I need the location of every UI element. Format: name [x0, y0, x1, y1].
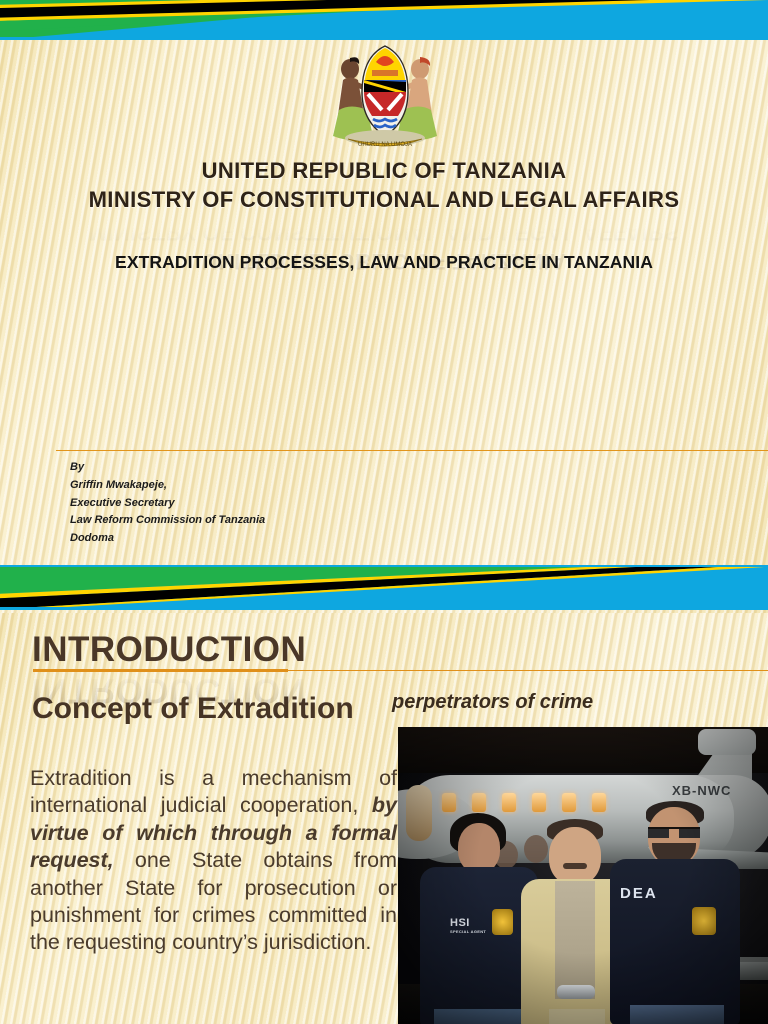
- detainee-head: [549, 827, 601, 885]
- agent-left-patch-label: HSI SPECIAL AGENT: [450, 917, 486, 934]
- byline-name: Griffin Mwakapeje,: [70, 477, 490, 495]
- aircraft-window: [562, 793, 576, 812]
- slide-title: UHURU NA UMOJA UNITED REPUBLIC OF TANZAN…: [0, 0, 768, 613]
- agent-right-jeans: [630, 1005, 724, 1024]
- page-title: UNITED REPUBLIC OF TANZANIA MINISTRY OF …: [0, 156, 768, 214]
- concept-title: Concept of Extradition: [32, 691, 372, 728]
- presentation-subtitle: EXTRADITION PROCESSES, LAW AND PRACTICE …: [104, 250, 664, 275]
- svg-text:UHURU NA UMOJA: UHURU NA UMOJA: [358, 142, 412, 148]
- section-heading: INTRODUCTION INTRODUCTION: [32, 630, 306, 670]
- aircraft-window: [502, 793, 516, 812]
- extradition-photo: XB-NWC HSI SPECIAL AGE: [398, 727, 768, 1024]
- byline-location: Dodoma: [70, 530, 490, 548]
- slide-introduction: INTRODUCTION INTRODUCTION Concept of Ext…: [0, 613, 768, 1024]
- detainee-legs: [549, 1009, 605, 1024]
- body-part-1: Extradition is a mechanism of internatio…: [30, 766, 397, 817]
- flag-band-bottom-edge-top: [0, 565, 768, 567]
- agent-left-jeans: [434, 1009, 526, 1024]
- presentation-page: UHURU NA UMOJA UNITED REPUBLIC OF TANZAN…: [0, 0, 768, 1024]
- aircraft-window: [532, 793, 546, 812]
- agent-left-badge-icon: [492, 909, 513, 935]
- photo-agent-right: DEA: [610, 801, 740, 1024]
- heading-rule-thick: [33, 669, 288, 672]
- aircraft-window: [442, 793, 456, 812]
- byline-position: Executive Secretary: [70, 495, 490, 513]
- agent-right-badge-icon: [692, 907, 716, 935]
- aircraft-registration-label: XB-NWC: [672, 783, 731, 798]
- page-title-line1: UNITED REPUBLIC OF TANZANIA: [0, 156, 768, 185]
- page-title-line2: MINISTRY OF CONSTITUTIONAL AND LEGAL AFF…: [0, 185, 768, 214]
- image-caption: perpetrators of crime: [392, 691, 593, 714]
- byline-block: By Griffin Mwakapeje, Executive Secretar…: [70, 459, 490, 548]
- aircraft-fin-tip: [698, 729, 756, 755]
- detainee-moustache: [563, 863, 587, 869]
- body-paragraph: Extradition is a mechanism of internatio…: [30, 765, 397, 957]
- agent-right-glasses-icon: [648, 827, 700, 838]
- divider-rule: [56, 450, 768, 451]
- flag-band-top: [0, 0, 768, 40]
- byline-organisation: Law Reform Commission of Tanzania: [70, 512, 490, 530]
- heading-rule-thin: [288, 670, 768, 671]
- flag-band-bottom: [0, 565, 768, 610]
- agent-left-head: [458, 823, 500, 873]
- byline-label: By: [70, 459, 490, 477]
- agent-right-jacket: [610, 859, 740, 1024]
- aircraft-window: [592, 793, 606, 812]
- flag-band-bottom-edge-bottom: [0, 607, 768, 610]
- handcuffs-icon: [557, 985, 595, 999]
- coat-of-arms-icon: UHURU NA UMOJA: [310, 36, 460, 151]
- detainee-shirt: [555, 881, 595, 999]
- aircraft-window: [472, 793, 486, 812]
- agent-right-patch-label: DEA: [620, 885, 658, 902]
